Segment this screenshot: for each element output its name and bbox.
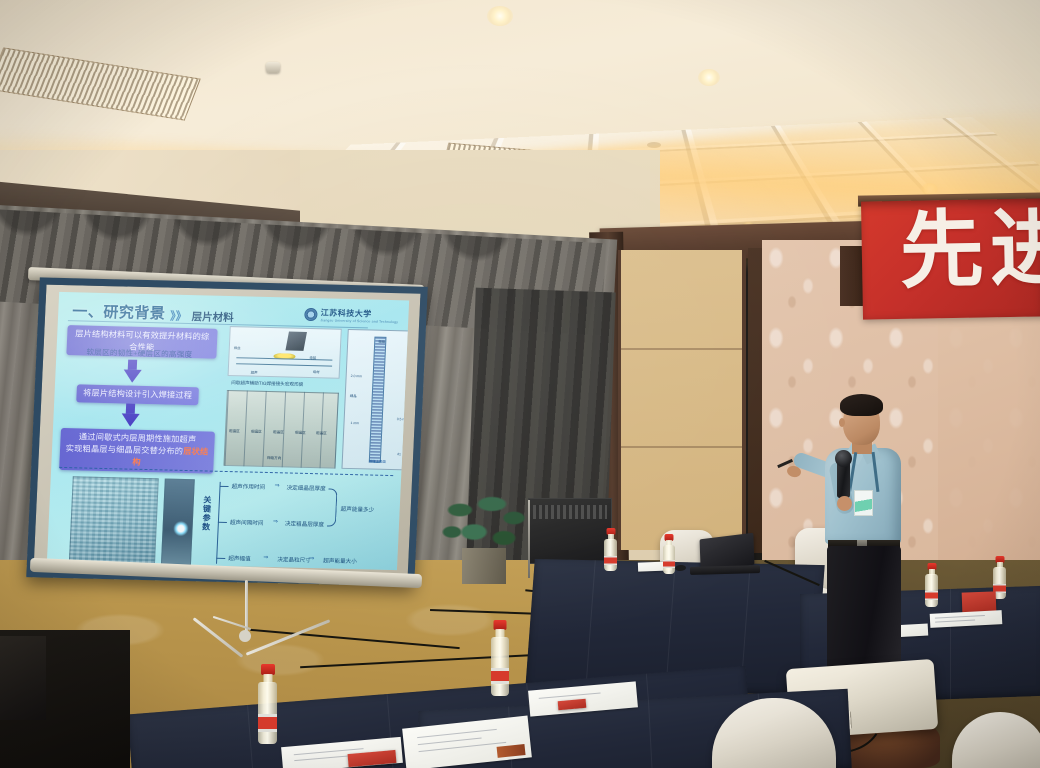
bottle-label	[491, 668, 509, 685]
screen-tripod-hub	[239, 630, 251, 642]
slide-surface: 一、研究背景 》》 层片材料 江苏科技大学 Jiangsu University…	[47, 292, 409, 570]
red-conference-banner: 先进	[861, 198, 1040, 319]
tree-cause: 超声间隔时间	[230, 518, 264, 527]
microphone-head-icon	[835, 450, 852, 467]
logo-name-en: Jiangsu University of Science and Techno…	[320, 318, 398, 324]
equipment-photo	[69, 476, 159, 564]
potted-plant-foliage	[440, 492, 532, 556]
weld-label: 电弧	[309, 355, 316, 360]
bottle-body	[663, 545, 675, 574]
flow-arrow-stem-1	[128, 360, 137, 370]
key-parameter-label: 关键参数	[200, 495, 213, 531]
speaker-cabinet	[0, 636, 46, 720]
bottle-body	[491, 637, 509, 696]
layer-tick: 1 mm	[350, 421, 359, 425]
layer-tick: 细晶	[350, 393, 357, 398]
tree-arrow-icon: ⇒	[263, 554, 268, 561]
table-name-card	[962, 591, 997, 612]
ceiling-downlight	[698, 69, 720, 86]
cross-section-micrograph: 粗晶区 细晶区 粗晶区 细晶区 粗晶区 焊缝方向	[223, 390, 338, 469]
layer-column	[368, 336, 387, 463]
layer-structure-diagram: 2.0 mm 细晶 粗晶 1 mm 0.5 mm d1 焊缝上表面	[341, 329, 409, 470]
presenter	[795, 392, 930, 672]
water-bottle[interactable]	[491, 620, 509, 696]
tree-arrow-icon: ⇒	[274, 482, 279, 489]
tree-branch	[218, 522, 227, 524]
presenter-ear	[839, 418, 845, 427]
wall-panel-tan	[618, 250, 746, 550]
layer-tick: 2.0 mm	[351, 374, 362, 378]
bottle-body	[604, 539, 617, 571]
bottle-body	[258, 682, 277, 744]
university-seal-icon	[304, 308, 318, 321]
plant-pot	[462, 548, 506, 584]
tree-effect: 决定细晶层厚度	[286, 483, 326, 492]
presenter-right-hand	[837, 496, 852, 511]
tree-branch	[219, 486, 228, 488]
presenter-hair	[840, 394, 883, 416]
xsec-label: 粗晶区	[273, 431, 284, 436]
flow-box-2-text: 将层片结构设计引入焊接过程	[83, 388, 192, 400]
weld-label: 母材	[313, 369, 320, 374]
flow-arrow-stem-2	[126, 404, 135, 414]
conference-badge	[854, 490, 873, 516]
bottle-label	[663, 560, 675, 568]
audio-equipment-rack	[528, 498, 612, 564]
flow-arrow-2	[121, 413, 140, 426]
ceiling-downlight	[487, 6, 513, 26]
flow-note: 软层区的韧性+硬层区的高强度	[86, 347, 192, 361]
tree-cause: 超声幅值	[228, 554, 251, 563]
paper-thumbnail	[497, 744, 526, 758]
xsec-label: 粗晶区	[229, 430, 240, 435]
flow-box-2: 将层片结构设计引入焊接过程	[76, 384, 199, 405]
chevron-icon: 》》	[170, 308, 187, 324]
flow-box-3-line1: 通过间歇式内层周期性施加超声	[79, 432, 197, 444]
xsec-label: 细晶区	[251, 430, 262, 435]
weld-label: 焊丝	[234, 345, 241, 350]
tree-cause: 超声作用时间	[231, 482, 265, 491]
weld-label: 超声	[251, 370, 258, 375]
tree-effect: 决定粗晶层厚度	[285, 519, 325, 528]
bottle-label	[258, 714, 277, 731]
xsec-label: 细晶区	[295, 431, 306, 436]
water-bottle[interactable]	[663, 534, 675, 574]
welding-arc-photo	[161, 478, 195, 565]
weld-schematic-figure: 焊丝 电弧 超声 母材	[228, 326, 342, 379]
flow-arrow-1	[123, 369, 142, 382]
key-parameter-tree: 关键参数 超声作用时间 ⇒ 决定细晶层厚度 超声间隔时间 ⇒ 决定粗晶层厚度 超…	[197, 477, 391, 570]
tree-branch	[216, 558, 225, 560]
flow-box-3-line2: 实现粗晶层与细晶层交替分布的	[66, 444, 184, 456]
projection-screen: 一、研究背景 》》 层片材料 江苏科技大学 Jiangsu University…	[26, 277, 428, 586]
university-logo: 江苏科技大学 Jiangsu University of Science and…	[304, 307, 398, 324]
brace-icon	[327, 488, 338, 526]
bottle-label	[604, 556, 617, 565]
mixer-faceplate	[533, 505, 607, 519]
xsec-axis-label: 焊缝方向	[267, 456, 282, 461]
layer-caption: 焊缝上表面	[369, 459, 386, 464]
weld-electrode-icon	[286, 331, 307, 351]
xsec-label: 粗晶区	[316, 432, 327, 437]
tree-result: 超声能量多少	[340, 505, 374, 514]
banner-text: 先进	[899, 208, 1040, 295]
layer-tick: d1	[397, 453, 401, 457]
presenter-trousers	[827, 546, 901, 672]
water-bottle[interactable]	[258, 664, 277, 744]
layer-tick: 粗晶	[378, 339, 385, 344]
water-bottle[interactable]	[604, 528, 617, 571]
cross-section-caption: 间歇超声辅助TIG焊接接头宏观形貌	[231, 380, 303, 388]
tree-arrow-icon: ⇒	[309, 555, 314, 562]
conference-room-photo: 先进 一、研究背景 》》 层片材料 江苏科技大学	[0, 0, 1040, 768]
tree-effect: 决定晶粒尺寸	[277, 555, 311, 564]
wall-damask-wallpaper-right	[938, 300, 1040, 580]
tree-result: 超声能量大小	[323, 556, 357, 565]
smoke-detector-icon	[266, 62, 280, 73]
tree-arrow-icon: ⇒	[273, 518, 278, 525]
